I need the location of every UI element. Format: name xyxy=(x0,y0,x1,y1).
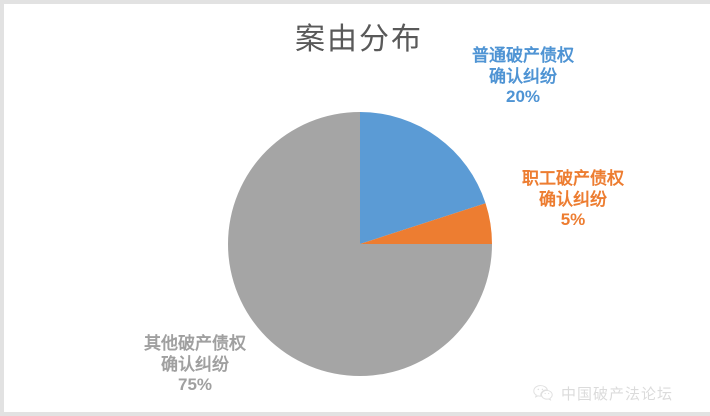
pie-label-line1: 普通破产债权 xyxy=(428,46,618,67)
pie-label-putong-pochan-zhaiquan: 普通破产债权 确认纠纷 20% xyxy=(428,46,618,108)
pie-label-zhigong-pochan-zhaiquan: 职工破产债权 确认纠纷 5% xyxy=(478,169,668,231)
pie-label-line1: 职工破产债权 xyxy=(478,169,668,190)
pie-label-percent: 5% xyxy=(478,210,668,231)
pie-label-percent: 20% xyxy=(428,87,618,108)
watermark: 中国破产法论坛 xyxy=(532,382,673,404)
pie-label-line2: 确认纠纷 xyxy=(90,355,300,376)
pie-label-line2: 确认纠纷 xyxy=(478,190,668,211)
pie-label-percent: 75% xyxy=(90,375,300,396)
chart-canvas: 案由分布 普通破产债权 确认纠纷 20% 职工破产债权 确认纠纷 5% 其他破产… xyxy=(0,0,710,416)
pie-label-line1: 其他破产债权 xyxy=(90,334,300,355)
pie-label-line2: 确认纠纷 xyxy=(428,67,618,88)
wechat-logo-icon xyxy=(532,382,554,404)
watermark-text: 中国破产法论坛 xyxy=(561,383,673,404)
pie-label-qita-pochan-zhaiquan: 其他破产债权 确认纠纷 75% xyxy=(90,334,300,396)
